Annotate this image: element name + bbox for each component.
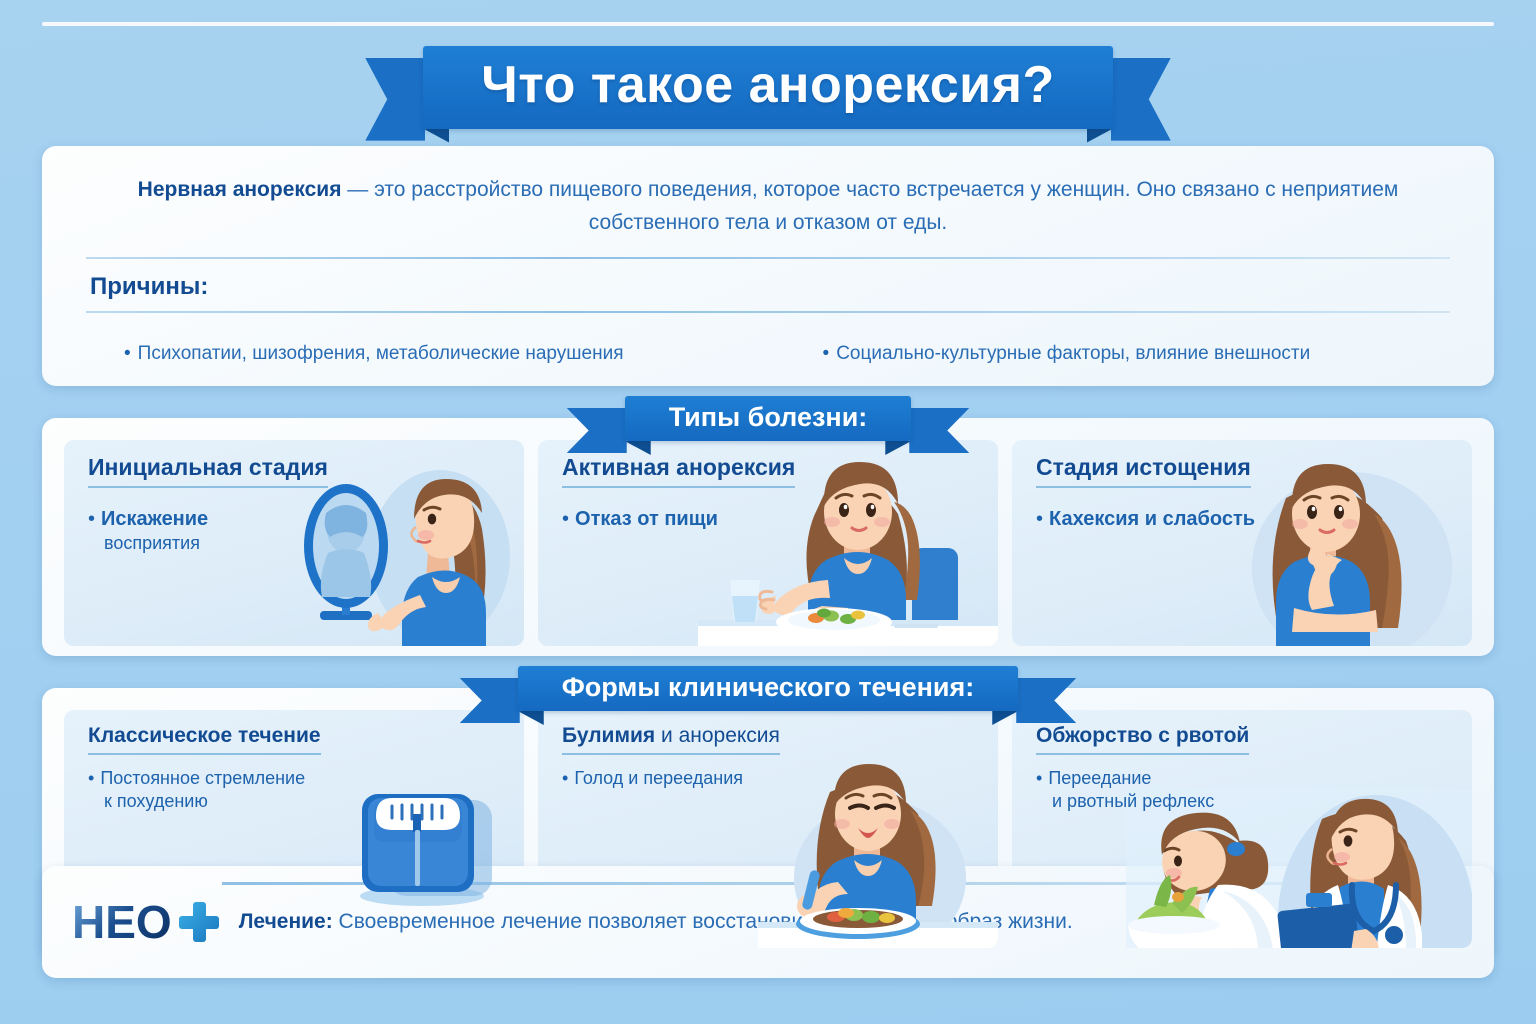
causes-divider: [86, 311, 1450, 313]
type-card-active-anorexia: Активная анорексия •Отказ от пищи: [538, 440, 998, 646]
bullet-icon: •: [823, 343, 830, 364]
card-text-block: Стадия истощения •Кахексия и слабость: [1012, 440, 1472, 532]
page-title-banner: Что такое анорексия?: [0, 46, 1536, 129]
card-point-main: Голод и переедания: [574, 768, 743, 788]
card-point-main: Искажение: [101, 508, 208, 530]
ribbon-tail-right: [1016, 678, 1076, 723]
card-title-strong: Классическое течение: [88, 724, 321, 747]
forms-section-banner: Формы клинического течения:: [0, 666, 1536, 711]
forms-ribbon-shape: Формы клинического течения:: [518, 666, 1019, 711]
cause-item-1: •Психопатии, шизофрения, метаболические …: [86, 343, 823, 365]
types-section-banner: Типы болезни:: [0, 396, 1536, 441]
ribbon-tail-left: [460, 678, 520, 723]
card-point-main: Переедание: [1048, 768, 1151, 788]
intro-body-text: — это расстройство пищевого поведения, к…: [341, 178, 1398, 234]
types-card-row: Инициальная стадия •Искажение восприятия: [42, 418, 1494, 656]
card-point: •Голод и переедания: [562, 767, 821, 790]
page-title: Что такое анорексия?: [481, 58, 1055, 113]
bullet-icon: •: [88, 768, 94, 788]
ribbon-fold-left: [423, 129, 449, 143]
card-point: •Искажение восприятия: [88, 506, 347, 555]
intro-divider: [86, 257, 1450, 259]
bullet-icon: •: [124, 343, 131, 364]
card-text-block: Булимия и анорексия •Голод и переедания: [538, 710, 998, 790]
bullet-icon: •: [1036, 508, 1043, 530]
cause-text-1: Психопатии, шизофрения, метаболические н…: [138, 343, 624, 364]
card-text-block: Инициальная стадия •Искажение восприятия: [64, 440, 524, 555]
card-point-sub: и рвотный рефлекс: [1036, 790, 1295, 813]
plus-icon: [179, 902, 219, 942]
card-point: •Постоянное стремление к похудению: [88, 767, 347, 814]
title-ribbon-shape: Что такое анорексия?: [423, 46, 1113, 129]
types-banner-label: Типы болезни:: [669, 402, 868, 433]
card-title: Обжорство с рвотой: [1036, 724, 1249, 755]
causes-list: •Психопатии, шизофрения, метаболические …: [86, 343, 1450, 365]
card-title-strong: Булимия: [562, 724, 655, 747]
card-point-sub: к похудению: [88, 790, 347, 813]
types-ribbon-shape: Типы болезни:: [625, 396, 912, 441]
treatment-label: Лечение:: [239, 910, 333, 933]
type-card-exhaustion-stage: Стадия истощения •Кахексия и слабость: [1012, 440, 1472, 646]
types-panel: Инициальная стадия •Искажение восприятия: [42, 418, 1494, 656]
card-title: Активная анорексия: [562, 454, 795, 488]
bullet-icon: •: [562, 508, 569, 530]
cause-item-2: •Социально-культурные факторы, влияние в…: [823, 343, 1450, 365]
ribbon-tail-left: [567, 408, 627, 453]
ribbon-fold-right: [1087, 129, 1113, 143]
ribbon-tail-left: [365, 58, 425, 141]
bullet-icon: •: [88, 508, 95, 530]
card-title: Классическое течение: [88, 724, 321, 755]
card-point-main: Отказ от пищи: [575, 508, 718, 530]
card-title: Стадия истощения: [1036, 454, 1251, 488]
card-point-sub: восприятия: [88, 532, 347, 555]
intro-lead-term: Нервная анорексия: [138, 178, 342, 201]
card-point: •Кахексия и слабость: [1036, 506, 1295, 532]
intro-panel: Нервная анорексия — это расстройство пищ…: [42, 146, 1494, 386]
card-text-block: Обжорство с рвотой •Переедание и рвотный…: [1012, 710, 1472, 814]
ribbon-tail-right: [909, 408, 969, 453]
card-title: Булимия и анорексия: [562, 724, 780, 755]
type-card-initial-stage: Инициальная стадия •Искажение восприятия: [64, 440, 524, 646]
logo-wordmark: НЕО: [72, 899, 172, 945]
card-point: •Отказ от пищи: [562, 506, 821, 532]
top-divider-rule: [42, 22, 1494, 26]
neo-plus-logo[interactable]: НЕО: [72, 899, 219, 945]
card-text-block: Классическое течение •Постоянное стремле…: [64, 710, 524, 814]
ribbon-tail-right: [1111, 58, 1171, 141]
card-title-thin: и анорексия: [655, 724, 780, 747]
forms-banner-label: Формы клинического течения:: [562, 672, 975, 703]
bullet-icon: •: [1036, 768, 1042, 788]
card-title-strong: Обжорство с рвотой: [1036, 724, 1249, 747]
card-point-main: Кахексия и слабость: [1049, 508, 1255, 530]
card-point-main: Постоянное стремление: [100, 768, 305, 788]
intro-paragraph: Нервная анорексия — это расстройство пищ…: [86, 174, 1450, 239]
cause-text-2: Социально-культурные факторы, влияние вн…: [836, 343, 1310, 364]
card-text-block: Активная анорексия •Отказ от пищи: [538, 440, 998, 532]
card-title: Инициальная стадия: [88, 454, 328, 488]
bullet-icon: •: [562, 768, 568, 788]
causes-heading: Причины:: [86, 273, 1450, 301]
card-point: •Переедание и рвотный рефлекс: [1036, 767, 1295, 814]
